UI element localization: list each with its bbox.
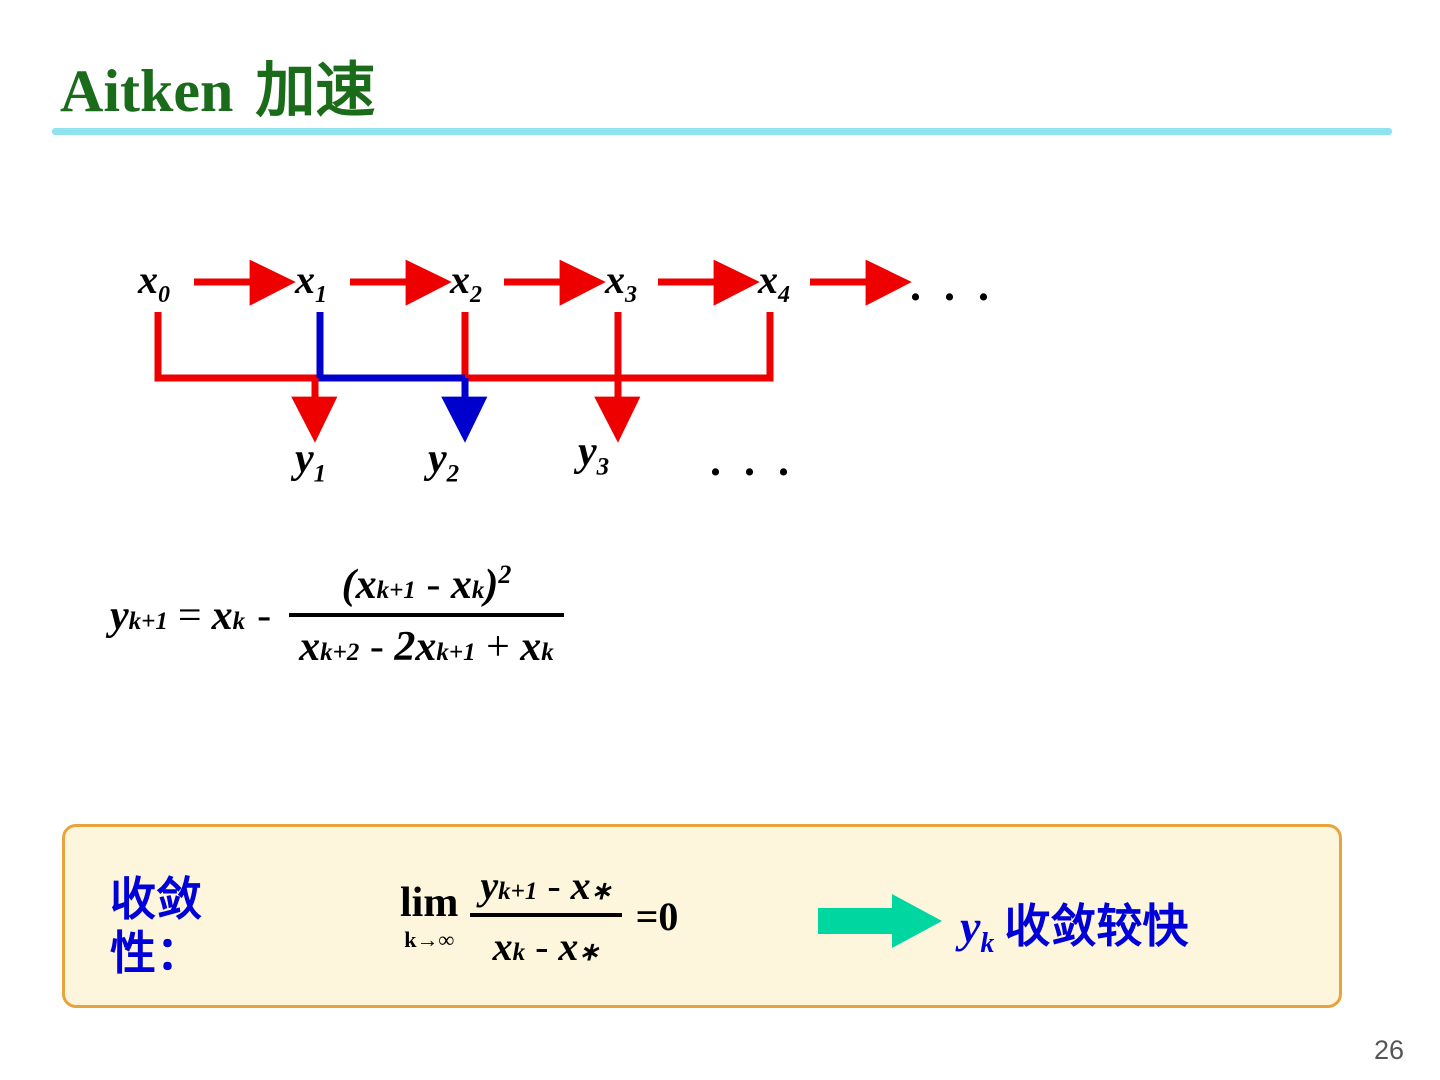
- iteration-diagram: x0 x1 x2 x3 x4 . . . y1 y2 y3 . . .: [110, 230, 1060, 510]
- aitken-formula: yk+1 = xk - (xk+1 - xk)2 xk+2 - 2xk+1 + …: [110, 560, 570, 671]
- limit-numerator: yk+1 - x∗: [470, 862, 621, 913]
- formula-numerator: (xk+1 - xk)2: [332, 560, 522, 613]
- green-implies-arrow: [818, 892, 942, 950]
- limit-equals: =: [636, 893, 659, 940]
- formula-denominator: xk+2 - 2xk+1 + xk: [289, 617, 564, 671]
- title-divider: [52, 128, 1392, 135]
- formula-xk: xk: [212, 592, 246, 640]
- formula-fraction: (xk+1 - xk)2 xk+2 - 2xk+1 + xk: [289, 560, 564, 671]
- page-number: 26: [1374, 1035, 1404, 1066]
- diagram-arrows: [110, 230, 1060, 510]
- page-title-cjk: 加速: [255, 56, 375, 126]
- formula-lhs: yk+1: [110, 592, 168, 640]
- limit-operator: lim k→∞: [400, 879, 458, 953]
- limit-fraction: yk+1 - x∗ xk - x∗: [470, 862, 621, 970]
- convergence-label: 收敛性：: [110, 872, 290, 980]
- formula-minus: -: [257, 592, 271, 640]
- limit-denominator: xk - x∗: [483, 917, 610, 970]
- formula-equals: =: [178, 592, 202, 640]
- page-title-latin: Aitken: [60, 58, 233, 124]
- page-title: Aitken加速: [60, 42, 375, 129]
- convergence-limit-expression: lim k→∞ yk+1 - x∗ xk - x∗ = 0: [400, 862, 678, 970]
- convergence-conclusion: yk收敛较快: [960, 890, 1188, 960]
- limit-value: 0: [658, 893, 678, 940]
- conclusion-text: 收敛较快: [1004, 899, 1188, 953]
- yk-symbol: yk: [960, 901, 994, 952]
